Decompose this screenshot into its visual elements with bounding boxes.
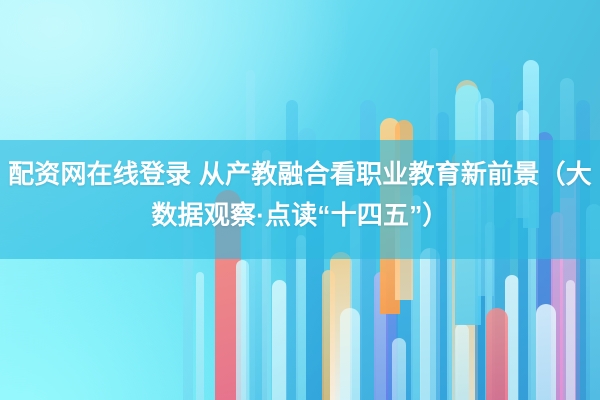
- decorative-bar: [296, 235, 306, 400]
- headline-line-2: 数据观察·点读“十四五”）: [8, 195, 592, 236]
- headline: 配资网在线登录 从产教融合看职业教育新前景（大 数据观察·点读“十四五”）: [0, 154, 600, 236]
- decorative-bar: [272, 280, 287, 400]
- decorative-bar: [536, 304, 556, 400]
- decorative-bar: [392, 338, 406, 400]
- article-thumbnail-banner: 配资网在线登录 从产教融合看职业教育新前景（大 数据观察·点读“十四五”）: [0, 0, 600, 400]
- decorative-bar: [486, 308, 508, 400]
- decorative-bar: [566, 280, 575, 400]
- decorative-bar: [196, 272, 204, 400]
- decorative-bar: [340, 308, 360, 400]
- decorative-bar: [455, 324, 469, 400]
- headline-line-1: 配资网在线登录 从产教融合看职业教育新前景（大: [8, 154, 592, 195]
